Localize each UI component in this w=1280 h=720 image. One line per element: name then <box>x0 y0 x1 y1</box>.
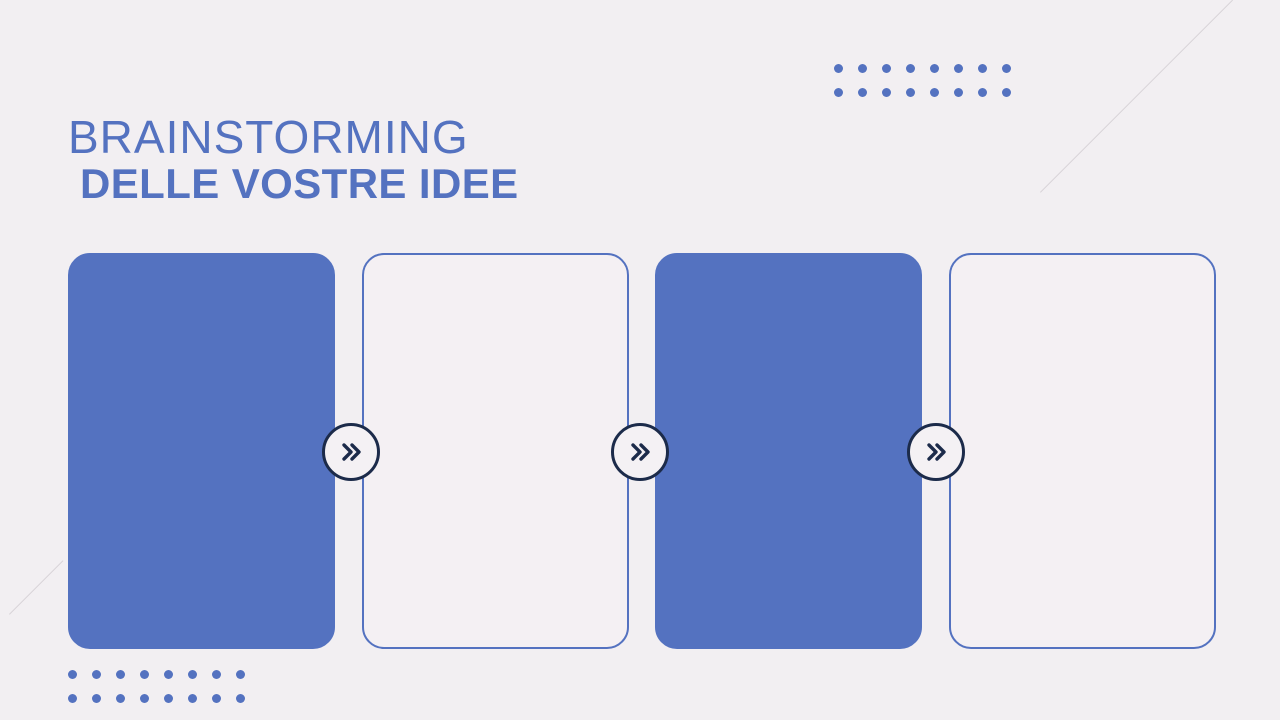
decorative-dot <box>906 64 915 73</box>
decorative-dot <box>236 670 245 679</box>
decorative-dot <box>188 694 197 703</box>
decorative-dot <box>140 670 149 679</box>
decorative-dot <box>834 88 843 97</box>
decorative-dot <box>882 88 891 97</box>
dot-grid-top-right <box>834 64 1026 112</box>
idea-card-4[interactable] <box>949 253 1216 649</box>
decorative-dot <box>68 694 77 703</box>
decorative-dot <box>92 670 101 679</box>
double-chevron-right-icon <box>921 437 951 467</box>
title-line-two: DELLE VOSTRE IDEE <box>68 162 550 207</box>
decorative-dot <box>116 694 125 703</box>
decorative-dot <box>188 670 197 679</box>
decorative-dot <box>1002 64 1011 73</box>
decorative-dot <box>834 64 843 73</box>
decorative-dot <box>116 670 125 679</box>
decorative-dot <box>212 694 221 703</box>
dot-grid-bottom-left <box>68 670 260 718</box>
decorative-dot <box>978 64 987 73</box>
decorative-dot <box>858 64 867 73</box>
next-step-badge-1[interactable] <box>322 423 380 481</box>
decorative-dot <box>68 670 77 679</box>
next-step-badge-3[interactable] <box>907 423 965 481</box>
decorative-dot <box>978 88 987 97</box>
double-chevron-right-icon <box>336 437 366 467</box>
idea-card-3[interactable] <box>655 253 922 649</box>
decorative-dot <box>954 88 963 97</box>
decorative-dot <box>954 64 963 73</box>
idea-card-1[interactable] <box>68 253 335 649</box>
decorative-dot <box>236 694 245 703</box>
decorative-dot <box>140 694 149 703</box>
decorative-dot <box>906 88 915 97</box>
double-chevron-right-icon <box>625 437 655 467</box>
decorative-dot <box>212 670 221 679</box>
decorative-dot <box>930 64 939 73</box>
decorative-dot <box>92 694 101 703</box>
diagonal-line-top-right-icon <box>1040 0 1233 193</box>
decorative-dot <box>858 88 867 97</box>
diagonal-line-bottom-left-icon <box>9 560 63 614</box>
title-line-one: BRAINSTORMING <box>68 113 768 162</box>
decorative-dot <box>164 694 173 703</box>
decorative-dot <box>930 88 939 97</box>
page-title: BRAINSTORMING DELLE VOSTRE IDEE <box>68 113 768 206</box>
next-step-badge-2[interactable] <box>611 423 669 481</box>
decorative-dot <box>882 64 891 73</box>
decorative-dot <box>164 670 173 679</box>
idea-card-2[interactable] <box>362 253 629 649</box>
slide-canvas: BRAINSTORMING DELLE VOSTRE IDEE <box>0 0 1280 720</box>
decorative-dot <box>1002 88 1011 97</box>
